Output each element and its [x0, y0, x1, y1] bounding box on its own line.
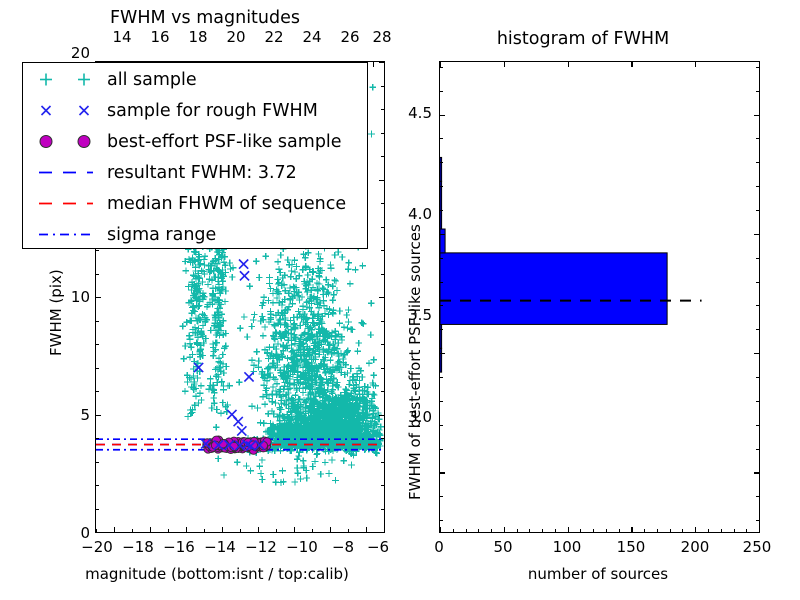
scatter-top-tick-label: 26	[340, 28, 359, 46]
hist-x-minor-tick	[555, 529, 556, 532]
scatter-top-tick-label: 24	[302, 28, 321, 46]
legend-entry-median-fwhm: median FHWM of sequence	[23, 188, 367, 219]
histogram-y-tick-label: 4.0	[408, 205, 432, 223]
hist-y-right-minor-tick	[756, 258, 759, 259]
hist-y-minor-tick	[440, 67, 443, 68]
histogram-title: histogram of FWHM	[497, 29, 669, 49]
scatter-x-tick-label: −18	[122, 538, 154, 556]
legend-entry-psf-sample: best-effort PSF-like sample	[23, 126, 367, 157]
y-minor-tick	[96, 438, 99, 439]
legend-label: best-effort PSF-like sample	[107, 132, 342, 152]
hist-x-minor-tick	[619, 529, 620, 532]
y-right-minor-tick	[381, 485, 384, 486]
hist-y-right-minor-tick	[756, 67, 759, 68]
hist-y-minor-tick	[440, 282, 443, 283]
hist-x-minor-tick	[670, 529, 671, 532]
y-right-tick	[379, 297, 384, 298]
hist-y-right-minor-tick	[756, 282, 759, 283]
legend-label: sigma range	[107, 225, 216, 245]
y-right-minor-tick	[381, 133, 384, 134]
hist-x-tick	[759, 527, 760, 532]
scatter-y-tick-label: 20	[71, 44, 90, 62]
y-right-minor-tick	[381, 227, 384, 228]
y-right-minor-tick	[381, 86, 384, 87]
y-minor-tick	[96, 321, 99, 322]
hist-x-minor-tick	[453, 529, 454, 532]
hist-y-right-minor-tick	[756, 377, 759, 378]
x-tick	[330, 527, 331, 532]
hist-y-minor-tick	[440, 305, 443, 306]
hist-y-right-minor-tick	[756, 496, 759, 497]
x-tick	[294, 527, 295, 532]
y-minor-tick	[96, 344, 99, 345]
dashed-line-icon	[29, 188, 103, 219]
scatter-x-axis-label: magnitude (bottom:isnt / top:calib)	[85, 565, 349, 583]
scatter-title: FWHM vs magnitudes	[110, 8, 300, 28]
legend-entry-all-sample: all sample	[23, 64, 367, 95]
y-right-minor-tick	[381, 156, 384, 157]
scatter-top-tick-label: 16	[150, 28, 169, 46]
hist-x-minor-tick	[517, 529, 518, 532]
hist-y-minor-tick	[440, 186, 443, 187]
x-tick	[150, 527, 151, 532]
x-minor-tick	[348, 529, 349, 532]
hist-x-top-tick	[631, 62, 632, 67]
y-right-minor-tick	[381, 321, 384, 322]
histogram-plot-area	[439, 61, 760, 533]
x-tick	[222, 527, 223, 532]
x-minor-tick	[240, 529, 241, 532]
y-right-minor-tick	[381, 438, 384, 439]
hist-y-right-minor-tick	[756, 305, 759, 306]
x-minor-tick	[168, 529, 169, 532]
y-right-minor-tick	[381, 109, 384, 110]
y-tick	[96, 415, 101, 416]
hist-y-right-minor-tick	[756, 520, 759, 521]
x-minor-tick	[276, 529, 277, 532]
hist-x-minor-tick	[721, 529, 722, 532]
legend-label: resultant FWHM: 3.72	[107, 163, 297, 183]
hist-x-minor-tick	[491, 529, 492, 532]
histogram-x-tick-label: 200	[681, 538, 710, 556]
x-tick	[258, 527, 259, 532]
x-top-tick	[373, 62, 374, 67]
y-minor-tick	[96, 368, 99, 369]
y-right-minor-tick	[381, 509, 384, 510]
y-right-minor-tick	[381, 391, 384, 392]
figure-canvas: FWHM vs magnitudes 14 16 18 20 22 24 26 …	[0, 0, 800, 600]
x-tick	[114, 527, 115, 532]
hist-x-minor-tick	[529, 529, 530, 532]
y-minor-tick	[96, 462, 99, 463]
hist-x-top-tick	[759, 62, 760, 67]
hist-y-minor-tick	[440, 520, 443, 521]
scatter-x-tick-label: −14	[204, 538, 236, 556]
hist-x-minor-tick	[657, 529, 658, 532]
scatter-y-axis-label: FWHM (pix)	[47, 269, 65, 356]
hist-x-minor-tick	[734, 529, 735, 532]
hist-x-top-tick	[695, 62, 696, 67]
scatter-x-tick-label: −16	[163, 538, 195, 556]
hist-y-right-minor-tick	[756, 425, 759, 426]
legend-entry-rough-sample: sample for rough FWHM	[23, 95, 367, 126]
hist-y-right-tick	[754, 234, 759, 235]
scatter-x-tick-label: −6	[367, 538, 389, 556]
scatter-x-tick-label: −20	[81, 538, 113, 556]
hist-x-top-tick	[568, 62, 569, 67]
histogram-data-layer	[440, 62, 759, 532]
y-minor-tick	[96, 250, 99, 251]
hist-y-tick	[440, 353, 445, 354]
dashdot-line-icon	[29, 219, 103, 250]
hist-x-tick	[631, 527, 632, 532]
legend-entry-sigma-range: sigma range	[23, 219, 367, 250]
hist-y-right-tick	[754, 472, 759, 473]
hist-y-minor-tick	[440, 138, 443, 139]
hist-y-minor-tick	[440, 91, 443, 92]
y-right-minor-tick	[381, 344, 384, 345]
dashed-line-icon	[29, 157, 103, 188]
hist-y-right-minor-tick	[756, 162, 759, 163]
hist-x-minor-tick	[682, 529, 683, 532]
y-right-tick	[379, 180, 384, 181]
cross-marker-icon	[29, 95, 103, 126]
histogram-y-axis-label: FWHM of best-effort PSF-like sources	[406, 224, 424, 500]
hist-y-right-minor-tick	[756, 401, 759, 402]
y-right-minor-tick	[381, 250, 384, 251]
legend-entry-resultant-fwhm: resultant FWHM: 3.72	[23, 157, 367, 188]
hist-x-minor-tick	[644, 529, 645, 532]
scatter-x-tick-label: −8	[332, 538, 354, 556]
legend-box: all sample sample for rough FWHM best-ef…	[22, 62, 368, 249]
y-minor-tick	[96, 509, 99, 510]
hist-x-tick	[568, 527, 569, 532]
x-tick	[366, 527, 367, 532]
hist-x-tick	[440, 527, 441, 532]
y-tick	[96, 532, 101, 533]
y-minor-tick	[96, 274, 99, 275]
hist-x-tick	[695, 527, 696, 532]
hist-x-minor-tick	[606, 529, 607, 532]
hist-y-minor-tick	[440, 210, 443, 211]
scatter-top-tick-label: 28	[372, 28, 391, 46]
hist-x-minor-tick	[478, 529, 479, 532]
hist-y-minor-tick	[440, 377, 443, 378]
y-right-tick	[379, 62, 384, 63]
hist-y-right-tick	[754, 353, 759, 354]
y-minor-tick	[96, 391, 99, 392]
histogram-x-tick-label: 250	[743, 538, 772, 556]
x-minor-tick	[204, 529, 205, 532]
hist-y-right-minor-tick	[756, 91, 759, 92]
hist-x-minor-tick	[466, 529, 467, 532]
hist-y-right-minor-tick	[756, 449, 759, 450]
y-right-minor-tick	[381, 368, 384, 369]
hist-x-minor-tick	[542, 529, 543, 532]
histogram-y-tick-label: 4.5	[408, 104, 432, 122]
scatter-y-tick-label: 10	[71, 288, 90, 306]
scatter-top-tick-label: 22	[264, 28, 283, 46]
scatter-x-tick-label: −12	[245, 538, 277, 556]
hist-x-minor-tick	[708, 529, 709, 532]
scatter-top-tick-label: 14	[112, 28, 131, 46]
x-minor-tick	[384, 529, 385, 532]
legend-label: median FHWM of sequence	[107, 194, 346, 214]
hist-y-minor-tick	[440, 449, 443, 450]
hist-y-minor-tick	[440, 401, 443, 402]
hist-y-minor-tick	[440, 329, 443, 330]
y-right-tick	[379, 415, 384, 416]
y-right-minor-tick	[381, 274, 384, 275]
y-right-minor-tick	[381, 462, 384, 463]
hist-y-right-minor-tick	[756, 186, 759, 187]
scatter-top-tick-label: 18	[188, 28, 207, 46]
histogram-x-tick-label: 150	[617, 538, 646, 556]
y-minor-tick	[96, 485, 99, 486]
hist-y-minor-tick	[440, 425, 443, 426]
hist-x-minor-tick	[746, 529, 747, 532]
plus-marker-icon	[29, 64, 103, 95]
y-right-tick	[379, 532, 384, 533]
hist-y-tick	[440, 472, 445, 473]
hist-y-minor-tick	[440, 258, 443, 259]
hist-x-minor-tick	[580, 529, 581, 532]
scatter-y-tick-label: 5	[80, 406, 90, 424]
hist-x-minor-tick	[593, 529, 594, 532]
histogram-x-axis-label: number of sources	[528, 565, 668, 583]
hist-x-top-tick	[504, 62, 505, 67]
hist-y-minor-tick	[440, 162, 443, 163]
dot-marker-icon	[29, 126, 103, 157]
scatter-x-tick-label: −10	[286, 538, 318, 556]
hist-x-tick	[504, 527, 505, 532]
hist-y-right-minor-tick	[756, 138, 759, 139]
hist-y-minor-tick	[440, 496, 443, 497]
histogram-x-tick-label: 50	[493, 538, 512, 556]
hist-y-tick	[440, 115, 445, 116]
y-right-minor-tick	[381, 203, 384, 204]
histogram-x-tick-label: 0	[434, 538, 444, 556]
scatter-top-tick-label: 20	[226, 28, 245, 46]
legend-label: all sample	[107, 70, 197, 90]
y-tick	[96, 297, 101, 298]
x-minor-tick	[312, 529, 313, 532]
hist-y-right-minor-tick	[756, 329, 759, 330]
hist-y-right-minor-tick	[756, 210, 759, 211]
hist-y-tick	[440, 234, 445, 235]
legend-label: sample for rough FWHM	[107, 101, 318, 121]
hist-y-right-tick	[754, 115, 759, 116]
x-tick	[186, 527, 187, 532]
histogram-x-tick-label: 100	[553, 538, 582, 556]
x-minor-tick	[132, 529, 133, 532]
